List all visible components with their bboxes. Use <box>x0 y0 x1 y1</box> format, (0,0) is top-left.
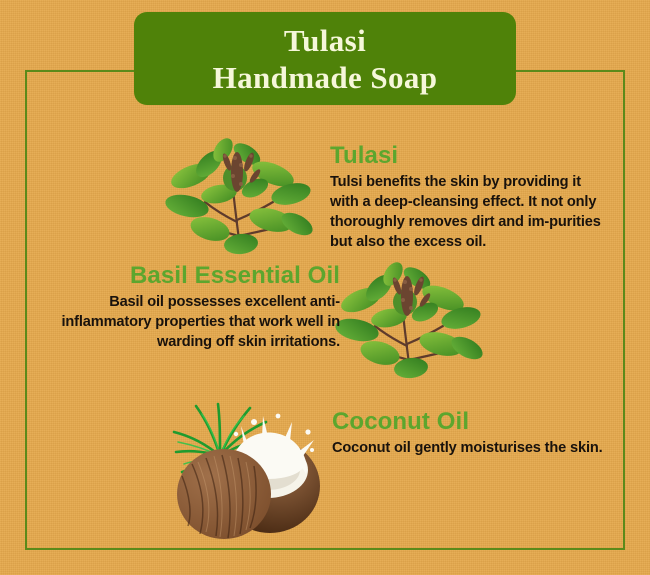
page-title-line-2: Handmade Soap <box>213 59 438 96</box>
section-heading-coconut: Coconut Oil <box>332 408 604 436</box>
basil-plant-icon <box>333 256 488 381</box>
section-body-coconut: Coconut oil gently moisturises the skin. <box>332 438 604 458</box>
section-basil: Basil Essential Oil Basil oil possesses … <box>55 262 340 352</box>
page-title-line-1: Tulasi <box>284 22 366 59</box>
title-badge: Tulasi Handmade Soap <box>134 12 516 105</box>
section-heading-basil: Basil Essential Oil <box>55 262 340 290</box>
section-body-basil: Basil oil possesses excellent anti-infla… <box>55 292 340 352</box>
section-coconut: Coconut Oil Coconut oil gently moisturis… <box>332 408 604 458</box>
tulsi-plant-icon <box>163 132 318 257</box>
coconut-oil-icon <box>162 398 330 546</box>
section-body-tulasi: Tulsi benefits the skin by providing it … <box>330 172 602 252</box>
section-tulasi: Tulasi Tulsi benefits the skin by provid… <box>330 142 602 252</box>
section-heading-tulasi: Tulasi <box>330 142 602 170</box>
